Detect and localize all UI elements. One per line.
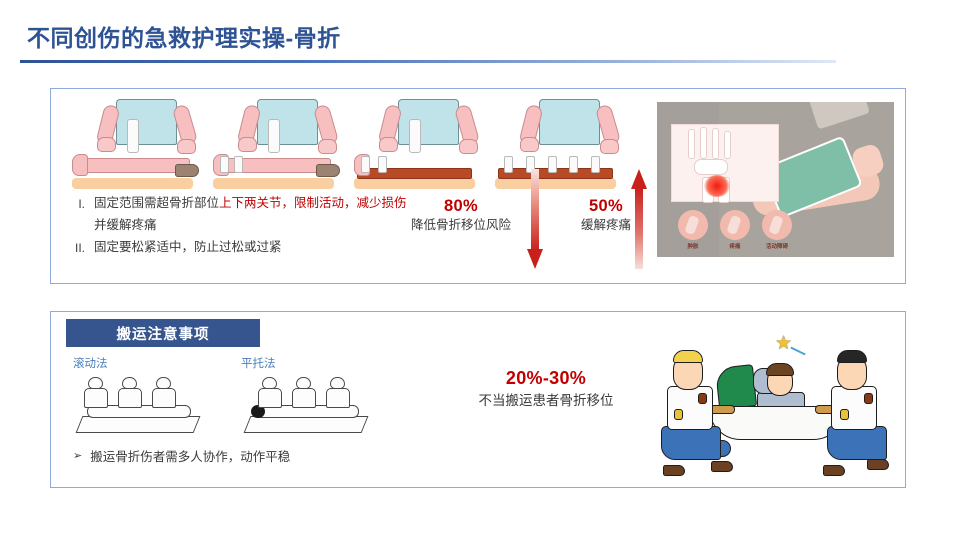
ground-shape xyxy=(72,178,193,189)
stretcher-carry-illustration: ★ xyxy=(657,320,891,480)
medic-shoe-shape xyxy=(823,465,845,476)
medic-hair-shape xyxy=(837,350,867,363)
pain-icon xyxy=(720,210,750,240)
gauze-wrap-shape xyxy=(234,156,243,173)
symptom-label: 活动障碍 xyxy=(761,242,793,250)
transport-note: ➢ 搬运骨折伤者需多人协作，动作平稳 xyxy=(73,446,290,465)
leg-shape xyxy=(75,158,190,173)
symptom-item: 肿胀 xyxy=(677,210,709,250)
transport-section-badge: 搬运注意事项 xyxy=(66,319,260,347)
carried-patient-figure xyxy=(749,354,811,410)
list-item-text: 固定范围需超骨折部位上下两关节，限制活动，减少损伤并缓解疼痛 xyxy=(94,193,409,237)
fracture-hotspot-icon xyxy=(704,175,730,197)
arrow-shaft xyxy=(531,169,539,251)
arrow-head xyxy=(631,169,647,189)
ground-shape xyxy=(495,178,616,189)
medic-badge-icon xyxy=(698,393,707,404)
gauze-wrap-shape xyxy=(548,156,557,173)
ground-shape xyxy=(213,178,334,189)
medic-shoe-shape xyxy=(867,459,889,470)
bone-shape xyxy=(712,128,719,159)
torso-shape xyxy=(398,99,458,145)
helper-figure xyxy=(83,377,109,407)
medic-hair-shape xyxy=(673,350,703,363)
left-hand-shape xyxy=(238,137,257,152)
stat-displacement-risk: 80% 降低骨折移位风险 xyxy=(381,195,541,234)
list-item-text: 固定要松紧适中，防止过松或过紧 xyxy=(94,237,409,259)
pain-star-icon: ★ xyxy=(775,334,792,353)
arrow-down-icon xyxy=(527,169,543,269)
right-hand-shape xyxy=(459,139,478,154)
list-marker: I. xyxy=(69,193,85,215)
gauze-wrap-shape xyxy=(569,156,578,173)
gauze-wrap-shape xyxy=(504,156,513,173)
stat-value: 80% xyxy=(381,195,541,217)
splint-step-3 xyxy=(349,97,486,193)
medic-shirt-shape xyxy=(831,386,877,430)
right-hand-shape xyxy=(318,139,337,154)
bone-shape xyxy=(700,127,707,159)
helper-body-shape xyxy=(118,388,142,408)
medic-figure-right xyxy=(815,352,889,476)
medic-pants-shape xyxy=(661,426,721,460)
helper-figure xyxy=(257,377,283,407)
rolling-method-illustration xyxy=(73,373,208,435)
gauze-roll-shape xyxy=(127,119,139,153)
bone-shape xyxy=(724,131,731,159)
transport-panel: 搬运注意事项 滚动法 平托法 xyxy=(50,311,906,488)
title-divider xyxy=(20,60,836,63)
stat-label: 降低骨折移位风险 xyxy=(381,217,541,234)
gauze-roll-shape xyxy=(268,119,280,153)
medic-shoe-shape xyxy=(711,461,733,472)
arrow-up-icon xyxy=(631,169,647,269)
list-item: II. 固定要松紧适中，防止过松或过紧 xyxy=(69,237,409,259)
symptom-label: 肿胀 xyxy=(677,242,709,250)
mat-shape xyxy=(244,416,369,433)
medic-emblem-icon xyxy=(674,409,683,420)
torso-shape xyxy=(257,99,317,145)
splint-step-4 xyxy=(490,97,627,193)
text-segment: 并缓解疼痛 xyxy=(94,218,157,232)
left-hand-shape xyxy=(97,137,116,152)
helper-figure xyxy=(291,377,317,407)
shoe-shape xyxy=(175,164,199,177)
wrist-cast-illustration: 肿胀 疼痛 活动障碍 xyxy=(657,102,894,257)
text-segment-emphasis: 上下两关节， xyxy=(219,196,294,210)
splint-step-2 xyxy=(208,97,345,193)
helper-body-shape xyxy=(152,388,176,408)
symptom-icon-group: 肿胀 疼痛 活动障碍 xyxy=(677,210,793,250)
swelling-icon xyxy=(678,210,708,240)
splint-step-1 xyxy=(67,97,204,193)
carpal-shape xyxy=(694,159,728,175)
gauze-roll-shape xyxy=(409,119,421,153)
transport-note-text: 搬运骨折伤者需多人协作，动作平稳 xyxy=(90,446,290,465)
mobility-icon xyxy=(762,210,792,240)
torso-shape xyxy=(116,99,176,145)
arrow-shaft xyxy=(635,187,643,269)
xray-inset xyxy=(671,124,779,202)
medic-pants-shape xyxy=(827,426,887,460)
symptom-item: 疼痛 xyxy=(719,210,751,250)
flat-lift-method-illustration xyxy=(241,373,376,435)
list-marker: II. xyxy=(69,237,85,259)
mat-shape xyxy=(76,416,201,433)
left-hand-shape xyxy=(520,137,539,152)
foot-shape xyxy=(72,154,88,176)
helper-figure xyxy=(117,377,143,407)
list-item: I. 固定范围需超骨折部位上下两关节，限制活动，减少损伤并缓解疼痛 xyxy=(69,193,409,237)
splint-sequence-illustration xyxy=(67,97,627,193)
torso-shape xyxy=(539,99,599,145)
symptom-label: 疼痛 xyxy=(719,242,751,250)
transport-method-rolling: 滚动法 xyxy=(73,355,213,435)
medic-shirt-shape xyxy=(667,386,713,430)
helper-body-shape xyxy=(292,388,316,408)
bone-shape xyxy=(688,129,695,159)
fixation-panel: I. 固定范围需超骨折部位上下两关节，限制活动，减少损伤并缓解疼痛 II. 固定… xyxy=(50,88,906,284)
transport-method-flat-lift: 平托法 xyxy=(241,355,381,435)
method-label: 平托法 xyxy=(241,355,381,371)
gauze-wrap-shape xyxy=(361,156,370,173)
medic-badge-icon xyxy=(864,393,873,404)
helper-figure xyxy=(325,377,351,407)
stat-value: 20%-30% xyxy=(421,365,671,391)
page-title: 不同创伤的急救护理实操-骨折 xyxy=(27,19,341,53)
medic-shoe-shape xyxy=(663,465,685,476)
method-label: 滚动法 xyxy=(73,355,213,371)
left-hand-shape xyxy=(379,137,398,152)
text-segment: 固定范围需超骨折部位 xyxy=(94,196,219,210)
stat-improper-transport: 20%-30% 不当搬运患者骨折移位 xyxy=(421,365,671,411)
gauze-wrap-shape xyxy=(591,156,600,173)
fixation-instruction-list: I. 固定范围需超骨折部位上下两关节，限制活动，减少损伤并缓解疼痛 II. 固定… xyxy=(69,193,409,259)
helper-body-shape xyxy=(84,388,108,408)
ground-shape xyxy=(354,178,475,189)
helper-body-shape xyxy=(326,388,350,408)
helper-figure xyxy=(151,377,177,407)
stat-label: 不当搬运患者骨折移位 xyxy=(421,391,671,411)
patient-hair-shape xyxy=(766,363,794,376)
splint-board-shape xyxy=(357,168,472,179)
shoe-shape xyxy=(316,164,340,177)
gauze-wrap-shape xyxy=(378,156,387,173)
medic-figure-left xyxy=(661,352,735,476)
helper-body-shape xyxy=(258,388,282,408)
arrow-head xyxy=(527,249,543,269)
right-hand-shape xyxy=(600,139,619,154)
gauze-wrap-shape xyxy=(220,156,229,173)
symptom-item: 活动障碍 xyxy=(761,210,793,250)
medic-emblem-icon xyxy=(840,409,849,420)
bullet-arrow-icon: ➢ xyxy=(73,449,82,462)
right-hand-shape xyxy=(177,139,196,154)
